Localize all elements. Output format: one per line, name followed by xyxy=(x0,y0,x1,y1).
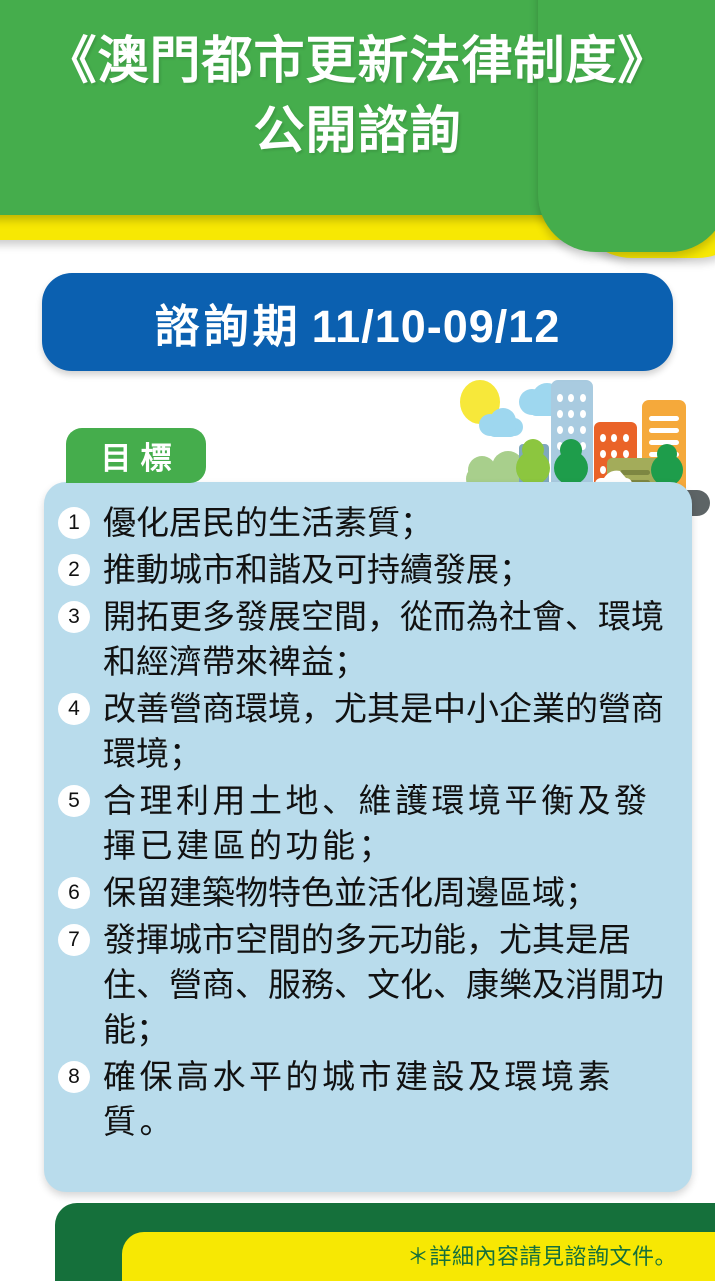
goal-item-number: 7 xyxy=(58,924,90,956)
goal-list: 1 優化居民的生活素質； 2 推動城市和諧及可持續發展； 3 開拓更多發展空間，… xyxy=(58,500,678,1144)
goal-item-text: 改善營商環境，尤其是中小企業的營商環境； xyxy=(103,686,678,776)
goal-list-item: 8 確保高水平的城市建設及環境素質。 xyxy=(58,1054,678,1144)
goal-list-item: 3 開拓更多發展空間，從而為社會、環境和經濟帶來裨益； xyxy=(58,594,678,684)
page-title: 《澳門都市更新法律制度》 公開諮詢 xyxy=(0,26,715,166)
goal-item-text: 推動城市和諧及可持續發展； xyxy=(103,547,678,592)
goal-item-text: 發揮城市空間的多元功能，尤其是居住、營商、服務、文化、康樂及消閒功能； xyxy=(103,917,678,1052)
goal-section-badge-label: 目標 xyxy=(92,433,181,478)
goal-item-number: 8 xyxy=(58,1061,90,1093)
goal-section-badge: 目標 xyxy=(66,428,206,483)
goal-list-item: 6 保留建築物特色並活化周邊區域； xyxy=(58,870,678,915)
goal-list-item: 7 發揮城市空間的多元功能，尤其是居住、營商、服務、文化、康樂及消閒功能； xyxy=(58,917,678,1052)
page-title-line1: 《澳門都市更新法律制度》 xyxy=(45,32,669,89)
goal-item-text: 開拓更多發展空間，從而為社會、環境和經濟帶來裨益； xyxy=(103,594,678,684)
goal-list-card: 1 優化居民的生活素質； 2 推動城市和諧及可持續發展； 3 開拓更多發展空間，… xyxy=(44,482,692,1192)
goal-list-item: 2 推動城市和諧及可持續發展； xyxy=(58,547,678,592)
poster-root: 《澳門都市更新法律制度》 公開諮詢 諮詢期11/10-09/12 xyxy=(0,0,715,1281)
goal-item-text: 優化居民的生活素質； xyxy=(103,500,678,545)
consultation-period-text: 諮詢期11/10-09/12 xyxy=(155,290,561,355)
goal-item-number: 6 xyxy=(58,877,90,909)
consultation-period-banner: 諮詢期11/10-09/12 xyxy=(42,273,673,371)
goal-item-number: 4 xyxy=(58,693,90,725)
goal-list-item: 5 合理利用土地、維護環境平衡及發揮已建區的功能； xyxy=(58,778,678,868)
goal-list-item: 4 改善營商環境，尤其是中小企業的營商環境； xyxy=(58,686,678,776)
goal-item-number: 3 xyxy=(58,601,90,633)
goal-item-text: 確保高水平的城市建設及環境素質。 xyxy=(103,1054,678,1144)
footer-note: ＊詳細內容請見諮詢文件。 xyxy=(122,1240,677,1274)
goal-list-item: 1 優化居民的生活素質； xyxy=(58,500,678,545)
page-title-line2: 公開諮詢 xyxy=(0,96,715,166)
consultation-period-label: 諮詢期 xyxy=(155,301,302,352)
goal-item-number: 2 xyxy=(58,554,90,586)
goal-item-text: 保留建築物特色並活化周邊區域； xyxy=(103,870,678,915)
consultation-period-value: 11/10-09/12 xyxy=(312,301,561,352)
goal-item-number: 5 xyxy=(58,785,90,817)
goal-item-number: 1 xyxy=(58,507,90,539)
goal-item-text: 合理利用土地、維護環境平衡及發揮已建區的功能； xyxy=(103,778,678,868)
